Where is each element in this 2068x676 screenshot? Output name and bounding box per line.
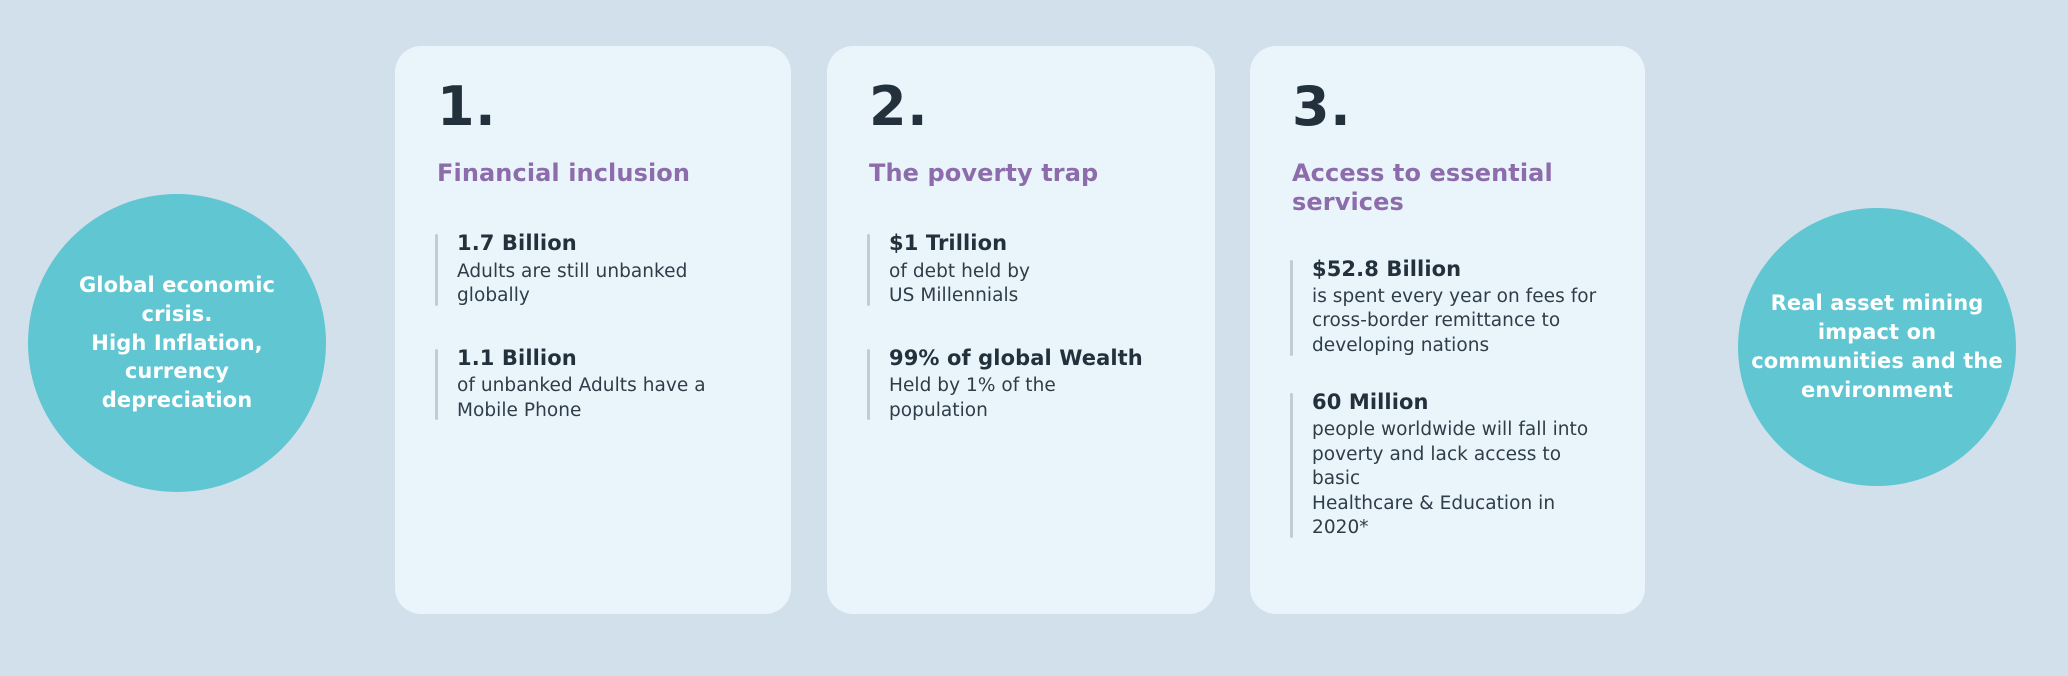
card-3-stat-1: $52.8 Billion is spent every year on fee… bbox=[1290, 256, 1605, 359]
card-1-title: Financial inclusion bbox=[437, 159, 737, 188]
stat-divider-bar-icon bbox=[867, 234, 870, 305]
card-3-stat-2: 60 Million people worldwide will fall in… bbox=[1290, 389, 1605, 541]
problem-card-3: 3. Access to essential services $52.8 Bi… bbox=[1250, 46, 1645, 614]
card-2-stat-1-value: $1 Trillion bbox=[889, 230, 1175, 257]
card-3-stat-1-description: is spent every year on fees for cross-bo… bbox=[1312, 285, 1605, 359]
card-2-stats: $1 Trillion of debt held by US Millennia… bbox=[867, 230, 1175, 423]
problem-circle-right-text: Real asset mining impact on communities … bbox=[1741, 289, 2013, 405]
card-1-stat-1-value: 1.7 Billion bbox=[457, 230, 751, 257]
stat-divider-bar-icon bbox=[1290, 260, 1293, 356]
card-3-stats: $52.8 Billion is spent every year on fee… bbox=[1290, 256, 1605, 541]
card-2-stat-2-value: 99% of global Wealth bbox=[889, 345, 1175, 372]
card-1-stat-2-value: 1.1 Billion bbox=[457, 345, 751, 372]
card-1-number: 1. bbox=[437, 80, 751, 134]
card-3-stat-1-value: $52.8 Billion bbox=[1312, 256, 1605, 283]
card-3-stat-2-description: people worldwide will fall into poverty … bbox=[1312, 418, 1605, 541]
problem-circle-right: Real asset mining impact on communities … bbox=[1738, 208, 2016, 486]
card-1-stat-2-description: of unbanked Adults have a Mobile Phone bbox=[457, 374, 751, 423]
card-2-number: 2. bbox=[869, 80, 1175, 134]
problem-circle-left-text: Global economic crisis. High Inflation, … bbox=[61, 271, 293, 416]
card-1-stat-1-description: Adults are still unbanked globally bbox=[457, 260, 751, 309]
stat-divider-bar-icon bbox=[867, 349, 870, 420]
card-2-stat-2: 99% of global Wealth Held by 1% of the p… bbox=[867, 345, 1175, 423]
card-2-title: The poverty trap bbox=[869, 159, 1169, 188]
card-3-number: 3. bbox=[1292, 80, 1605, 134]
card-2-stat-2-description: Held by 1% of the population bbox=[889, 374, 1175, 423]
infographic-canvas: Global economic crisis. High Inflation, … bbox=[0, 0, 2068, 676]
card-3-stat-2-value: 60 Million bbox=[1312, 389, 1605, 416]
card-1-stat-2: 1.1 Billion of unbanked Adults have a Mo… bbox=[435, 345, 751, 423]
card-1-stat-1: 1.7 Billion Adults are still unbanked gl… bbox=[435, 230, 751, 308]
card-2-stat-1-description: of debt held by US Millennials bbox=[889, 260, 1175, 309]
card-1-stats: 1.7 Billion Adults are still unbanked gl… bbox=[435, 230, 751, 423]
problem-card-2: 2. The poverty trap $1 Trillion of debt … bbox=[827, 46, 1215, 614]
card-2-stat-1: $1 Trillion of debt held by US Millennia… bbox=[867, 230, 1175, 308]
problem-card-1: 1. Financial inclusion 1.7 Billion Adult… bbox=[395, 46, 791, 614]
stat-divider-bar-icon bbox=[435, 349, 438, 420]
problem-circle-left: Global economic crisis. High Inflation, … bbox=[28, 194, 326, 492]
stat-divider-bar-icon bbox=[435, 234, 438, 305]
stat-divider-bar-icon bbox=[1290, 393, 1293, 538]
card-3-title: Access to essential services bbox=[1292, 159, 1592, 218]
